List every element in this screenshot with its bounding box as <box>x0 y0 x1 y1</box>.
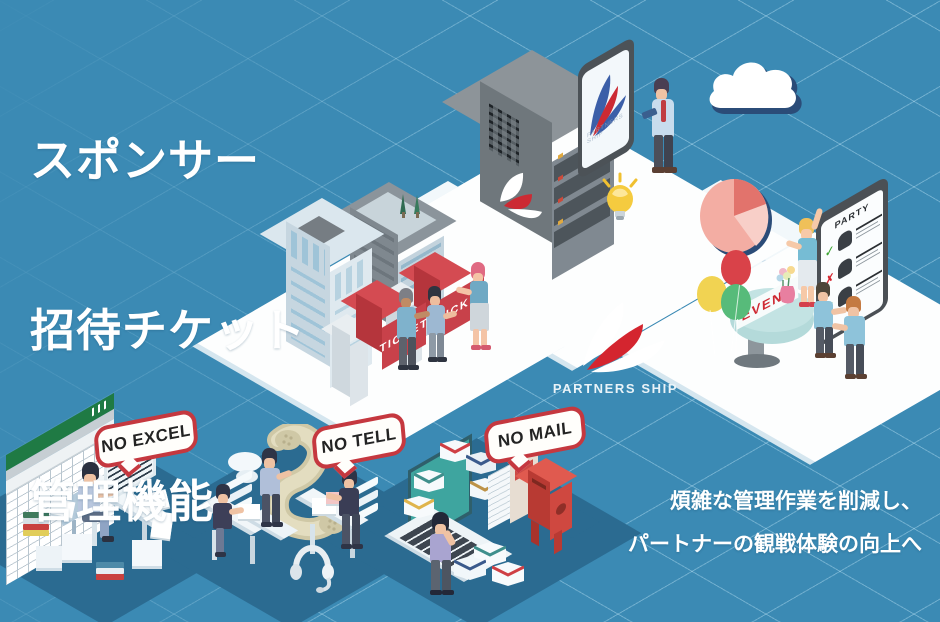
bubble-label: NO MAIL <box>497 418 573 452</box>
flower-vase-icon <box>774 266 800 311</box>
brand-logo: PARTNERS SHIP <box>548 300 683 396</box>
no-tell-bubble: NO TELL <box>311 411 407 471</box>
tagline-line-2: パートナーの観戦体験の向上へ <box>628 523 922 566</box>
envelope-icon <box>414 470 444 497</box>
banner-canvas: スポンサー 招待チケット 管理機能 煩雑な管理作業を削減し、 パートナーの観戦体… <box>0 0 940 622</box>
envelope-icon <box>404 496 434 523</box>
page-title: スポンサー 招待チケット 管理機能 <box>30 20 306 622</box>
balloon-icon <box>721 250 751 286</box>
envelope-icon <box>454 556 486 585</box>
tagline-line-1: 煩雑な管理作業を削減し、 <box>628 480 922 523</box>
avatar <box>838 256 852 280</box>
cloud-icon <box>706 52 810 131</box>
lightbulb-icon <box>596 172 644 229</box>
tagline: 煩雑な管理作業を削減し、 パートナーの観戦体験の向上へ <box>628 480 922 566</box>
logo-wordmark: PARTNERS SHIP <box>548 381 683 396</box>
envelope-icon <box>492 562 524 591</box>
headline-line-3: 管理機能 <box>30 474 306 531</box>
headline-line-1: スポンサー <box>30 133 306 190</box>
check-icon: ✓ <box>825 242 834 260</box>
tree-icon <box>392 190 426 220</box>
bubble-label: NO TELL <box>321 424 398 459</box>
avatar <box>838 228 852 252</box>
headline-line-2: 招待チケット <box>30 303 306 360</box>
logo-sail-icon <box>561 300 671 374</box>
